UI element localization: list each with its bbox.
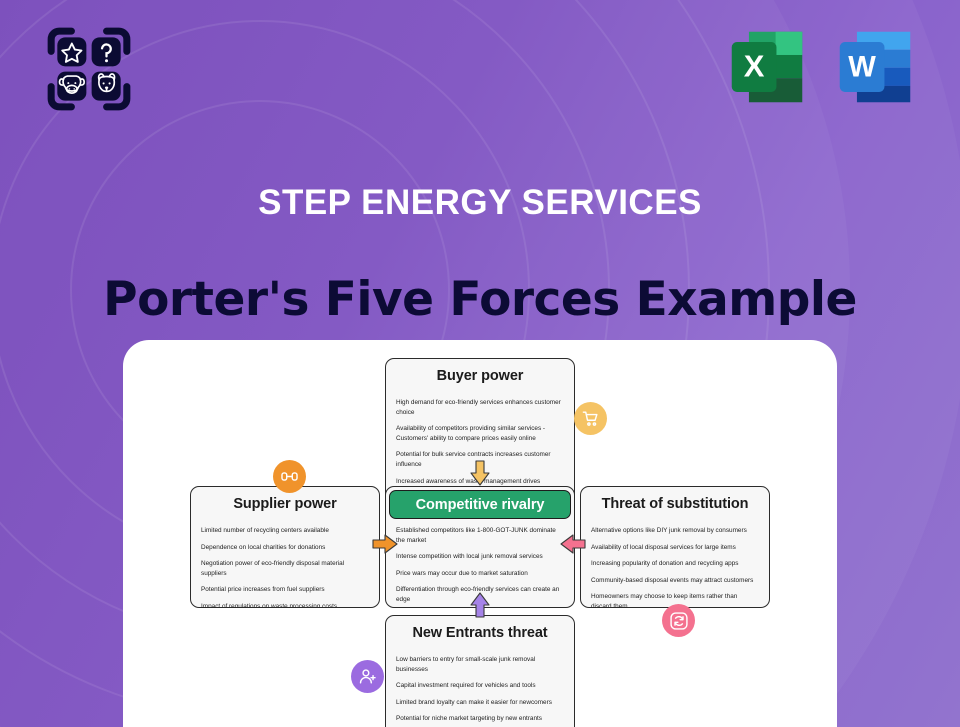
refresh-sync-icon[interactable]	[662, 604, 695, 637]
arrow-supplier-to-rivalry-icon	[372, 532, 398, 556]
force-point: Community-based disposal events may attr…	[591, 576, 759, 586]
add-user-icon[interactable]	[351, 660, 384, 693]
force-point: Established competitors like 1-800-GOT-J…	[396, 526, 564, 545]
force-points-new-entrants-threat: Low barriers to entry for small-scale ju…	[386, 648, 574, 727]
force-title-threat-of-substitution: Threat of substitution	[581, 487, 769, 519]
force-point: Dependence on local charities for donati…	[201, 543, 369, 553]
page-eyebrow: STEP ENERGY SERVICES	[0, 183, 960, 223]
arrow-entrants-to-rivalry-icon	[468, 592, 492, 618]
force-point: Impact of regulations on waste processin…	[201, 602, 369, 608]
excel-icon[interactable]: X	[724, 24, 810, 110]
office-app-icons: X W	[724, 24, 918, 110]
force-point: Limited brand loyalty can make it easier…	[396, 698, 564, 708]
force-point: Increasing popularity of donation and re…	[591, 559, 759, 569]
force-point: Negotiation power of eco-friendly dispos…	[201, 559, 369, 578]
diagram-card: Buyer power High demand for eco-friendly…	[123, 340, 837, 727]
link-chain-icon[interactable]	[273, 460, 306, 493]
force-box-supplier-power[interactable]: Supplier power Limited number of recycli…	[190, 486, 380, 608]
force-point: Intense competition with local junk remo…	[396, 552, 564, 562]
arrow-substitution-to-rivalry-icon	[560, 532, 586, 556]
force-box-new-entrants-threat[interactable]: New Entrants threat Low barriers to entr…	[385, 615, 575, 727]
svg-text:X: X	[744, 48, 765, 83]
quiz-brand-logo[interactable]	[45, 25, 133, 113]
force-point: Availability of local disposal services …	[591, 543, 759, 553]
force-point: High demand for eco-friendly services en…	[396, 398, 564, 417]
force-point: Low barriers to entry for small-scale ju…	[396, 655, 564, 674]
arrow-buyer-to-rivalry-icon	[468, 460, 492, 486]
force-point: Potential for niche market targeting by …	[396, 714, 564, 724]
force-title-competitive-rivalry: Competitive rivalry	[389, 490, 571, 519]
force-points-supplier-power: Limited number of recycling centers avai…	[191, 519, 379, 608]
force-point: Capital investment required for vehicles…	[396, 681, 564, 691]
force-points-threat-of-substitution: Alternative options like DIY junk remova…	[581, 519, 769, 608]
word-icon[interactable]: W	[832, 24, 918, 110]
shopping-cart-icon[interactable]	[574, 402, 607, 435]
force-title-new-entrants-threat: New Entrants threat	[386, 616, 574, 648]
porters-five-forces-diagram: Buyer power High demand for eco-friendly…	[123, 340, 837, 727]
force-point: Price wars may occur due to market satur…	[396, 569, 564, 579]
force-point: Limited number of recycling centers avai…	[201, 526, 369, 536]
force-point: Potential price increases from fuel supp…	[201, 585, 369, 595]
force-point: Availability of competitors providing si…	[396, 424, 564, 443]
force-point: Alternative options like DIY junk remova…	[591, 526, 759, 536]
force-box-competitive-rivalry[interactable]: Competitive rivalry Established competit…	[385, 486, 575, 608]
force-box-threat-of-substitution[interactable]: Threat of substitution Alternative optio…	[580, 486, 770, 608]
page-title: Porter's Five Forces Example	[0, 272, 960, 327]
svg-text:W: W	[848, 51, 876, 83]
force-title-buyer-power: Buyer power	[386, 359, 574, 391]
